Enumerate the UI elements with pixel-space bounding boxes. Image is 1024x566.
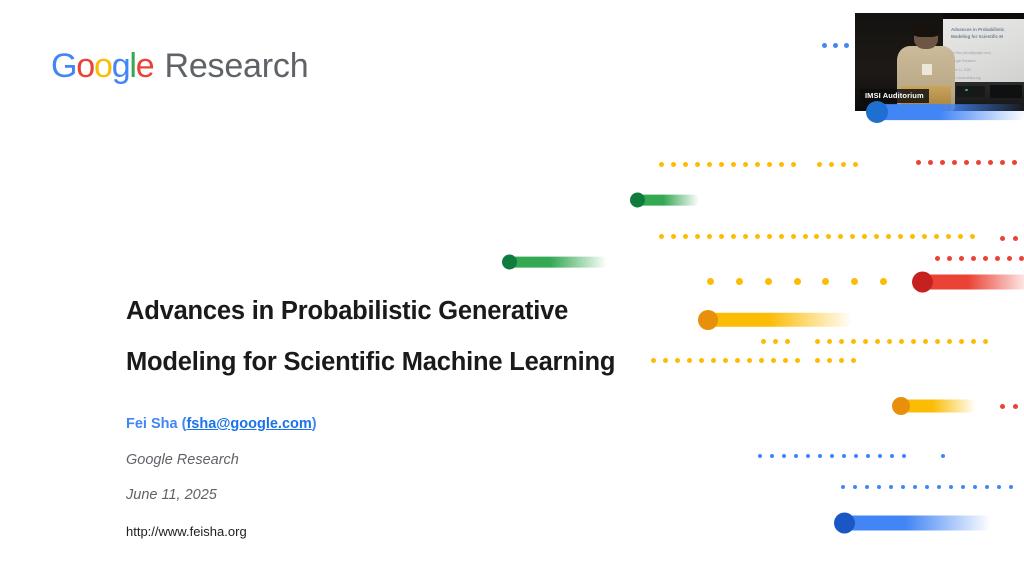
decor-dot [659,234,664,239]
presentation-date: June 11, 2025 [126,487,546,503]
decor-dot [997,485,1001,489]
decor-dot [934,234,939,239]
decor-dot [719,234,724,239]
decor-dot [723,358,728,363]
decor-dot [1013,236,1018,241]
decor-dot [854,454,858,458]
decor-dot [995,256,1000,261]
decor-dot [961,485,965,489]
decor-dot [910,234,915,239]
decor-dot [829,162,834,167]
decor-dot [755,234,760,239]
dot-row-yellow-4a [761,339,797,344]
decor-dot [902,454,906,458]
decor-dot [890,454,894,458]
decor-dot [851,358,856,363]
decor-dot [853,162,858,167]
decor-dot [687,358,692,363]
decor-dot [785,339,790,344]
comet-head [698,310,718,330]
comet-tail [707,313,853,327]
decor-dot [959,339,964,344]
decor-dot [795,358,800,363]
google-letter-1: o [76,47,94,85]
decor-dot [770,454,774,458]
decor-dot [747,358,752,363]
decor-dot [889,485,893,489]
decor-dot [782,454,786,458]
dot-row-yellow-1a [659,162,803,167]
video-location-label: IMSI Auditorium [860,89,929,103]
decor-dot [707,234,712,239]
decor-dot [794,454,798,458]
decor-dot [973,485,977,489]
decor-dot [755,162,760,167]
byline-block: Fei Sha (fsha@google.com) Google Researc… [126,417,546,540]
decor-dot [683,162,688,167]
decor-dot [818,454,822,458]
decor-dot [875,339,880,344]
comet-head [834,513,855,534]
decor-dot [817,162,822,167]
decor-dot [779,234,784,239]
decor-dot [862,234,867,239]
title-line-2: Modeling for Scientific Machine Learning [126,337,686,388]
affiliation: Google Research [126,452,546,468]
decor-dot [947,339,952,344]
decor-dot [1000,236,1005,241]
dot-row-yellow-3a [707,278,823,285]
decor-dot [827,358,832,363]
decor-dot [937,485,941,489]
decor-dot [839,339,844,344]
decor-dot [923,339,928,344]
google-letter-3: g [112,47,130,85]
mini-slide-sub-2: Google Research [951,59,1019,64]
decor-dot [695,234,700,239]
decor-dot [814,234,819,239]
decor-dot [899,339,904,344]
dot-row-blue-3 [841,485,1021,489]
author-name: Fei Sha [126,416,178,432]
decor-dot [898,234,903,239]
decor-dot [707,278,714,285]
decor-dot [985,485,989,489]
decor-dot [880,278,887,285]
decor-dot [815,358,820,363]
decor-dot [767,162,772,167]
decor-dot [947,256,952,261]
decor-dot [761,339,766,344]
comet-head [892,397,910,415]
decor-dot [771,358,776,363]
decor-dot [925,485,929,489]
decor-dot [958,234,963,239]
mini-slide-title-2: Modeling for Scientific M [951,34,1021,41]
decor-dot [671,162,676,167]
presenter-hair [913,24,940,37]
mini-slide-sub-1: Fei Sha (fsha@google.com) [951,51,1019,56]
google-letter-0: G [51,47,76,85]
presentation-slide: Google Research Advances in Probabilisti… [0,0,1024,566]
decor-dot [822,278,829,285]
decor-dot [830,454,834,458]
decor-dot [935,256,940,261]
decor-dot [833,43,838,48]
slide-title: Advances in Probabilistic Generative Mod… [126,286,686,388]
decor-dot [1000,404,1005,409]
google-research-logo: Google Research [51,47,308,85]
decor-dot [922,234,927,239]
dot-row-blue-2 [758,454,914,458]
decor-dot [1009,485,1013,489]
decor-dot [970,234,975,239]
research-wordmark: Research [164,47,308,85]
decor-dot [959,256,964,261]
decor-dot [815,339,820,344]
decor-dot [850,234,855,239]
decor-dot [842,454,846,458]
decor-dot [794,278,801,285]
decor-dot [911,339,916,344]
decor-dot [874,234,879,239]
author-email-link[interactable]: fsha@google.com [186,416,311,432]
decor-dot [659,162,664,167]
decor-dot [803,234,808,239]
decor-dot [928,160,933,165]
dot-row-red-1 [916,160,1024,165]
comet-tail [637,195,699,206]
dot-row-red-4 [1000,404,1024,409]
mini-slide-sub-3: June 11, 2025 [951,68,1019,73]
presenter-webcam-feed[interactable]: Advances in Probabilistic Modeling for S… [855,13,1024,111]
decor-dot [841,162,846,167]
decor-dot [791,162,796,167]
decor-dot [971,256,976,261]
decor-dot [822,43,827,48]
decor-dot [707,162,712,167]
decor-dot [731,162,736,167]
comet-tail [900,400,976,413]
decor-dot [901,485,905,489]
monitor [990,85,1022,99]
dot-row-yellow-2b [814,234,982,239]
decor-dot [964,160,969,165]
decor-dot [806,454,810,458]
decor-dot [767,234,772,239]
decor-dot [841,485,845,489]
comet-tail [876,104,1024,120]
decor-dot [827,339,832,344]
dot-row-blue-2b [941,454,953,458]
google-letter-5: e [136,47,154,85]
decor-dot [866,454,870,458]
decor-dot [671,234,676,239]
laptop [956,86,985,98]
decor-dot [952,160,957,165]
comet-head [912,272,933,293]
dot-row-red-3 [935,256,1024,261]
decor-dot [949,485,953,489]
comet-head [866,101,888,123]
decor-dot [758,454,762,458]
decor-dot [765,278,772,285]
decor-dot [783,358,788,363]
decor-dot [839,358,844,363]
dot-row-yellow-2a [659,234,815,239]
comet-tail [509,257,607,268]
mini-slide-title-1: Advances in Probabilistic [951,27,1021,34]
decor-dot [699,358,704,363]
paren-close: ) [312,416,317,432]
author-line: Fei Sha (fsha@google.com) [126,417,546,432]
decor-dot [1012,160,1017,165]
dot-row-red-2 [1000,236,1024,241]
decor-dot [773,339,778,344]
decor-dot [865,485,869,489]
decor-dot [743,234,748,239]
decor-dot [736,278,743,285]
comet-head [502,255,517,270]
decor-dot [1019,256,1024,261]
presenter-badge [922,64,932,75]
mini-slide-sub-4: http://www.feisha.org [951,76,1019,81]
decor-dot [887,339,892,344]
decor-dot [851,339,856,344]
google-letter-2: o [94,47,112,85]
comet-tail [843,515,991,530]
dot-row-yellow-3b [822,278,909,285]
dot-row-yellow-1b [817,162,865,167]
decor-dot [779,162,784,167]
decor-dot [731,234,736,239]
decor-dot [886,234,891,239]
dot-row-yellow-4b [815,339,995,344]
decor-dot [1007,256,1012,261]
decor-dot [916,160,921,165]
decor-dot [719,162,724,167]
comet-head [630,193,645,208]
decor-dot [838,234,843,239]
decor-dot [913,485,917,489]
decor-dot [877,485,881,489]
decor-dot [759,358,764,363]
homepage-url[interactable]: http://www.feisha.org [126,524,546,540]
decor-dot [735,358,740,363]
decor-dot [851,278,858,285]
decor-dot [988,160,993,165]
decor-dot [683,234,688,239]
decor-dot [940,160,945,165]
decor-dot [935,339,940,344]
decor-dot [878,454,882,458]
decor-dot [946,234,951,239]
dot-row-yellow-5b [815,358,863,363]
decor-dot [983,339,988,344]
comet-tail [921,274,1024,289]
google-wordmark: Google [51,47,153,85]
decor-dot [743,162,748,167]
decor-dot [971,339,976,344]
decor-dot [826,234,831,239]
decor-dot [791,234,796,239]
decor-dot [863,339,868,344]
decor-dot [711,358,716,363]
decor-dot [844,43,849,48]
decor-dot [1000,160,1005,165]
decor-dot [976,160,981,165]
decor-dot [983,256,988,261]
title-line-1: Advances in Probabilistic Generative [126,286,686,337]
decor-dot [1013,404,1018,409]
decor-dot [853,485,857,489]
decor-dot [941,454,945,458]
decor-dot [695,162,700,167]
